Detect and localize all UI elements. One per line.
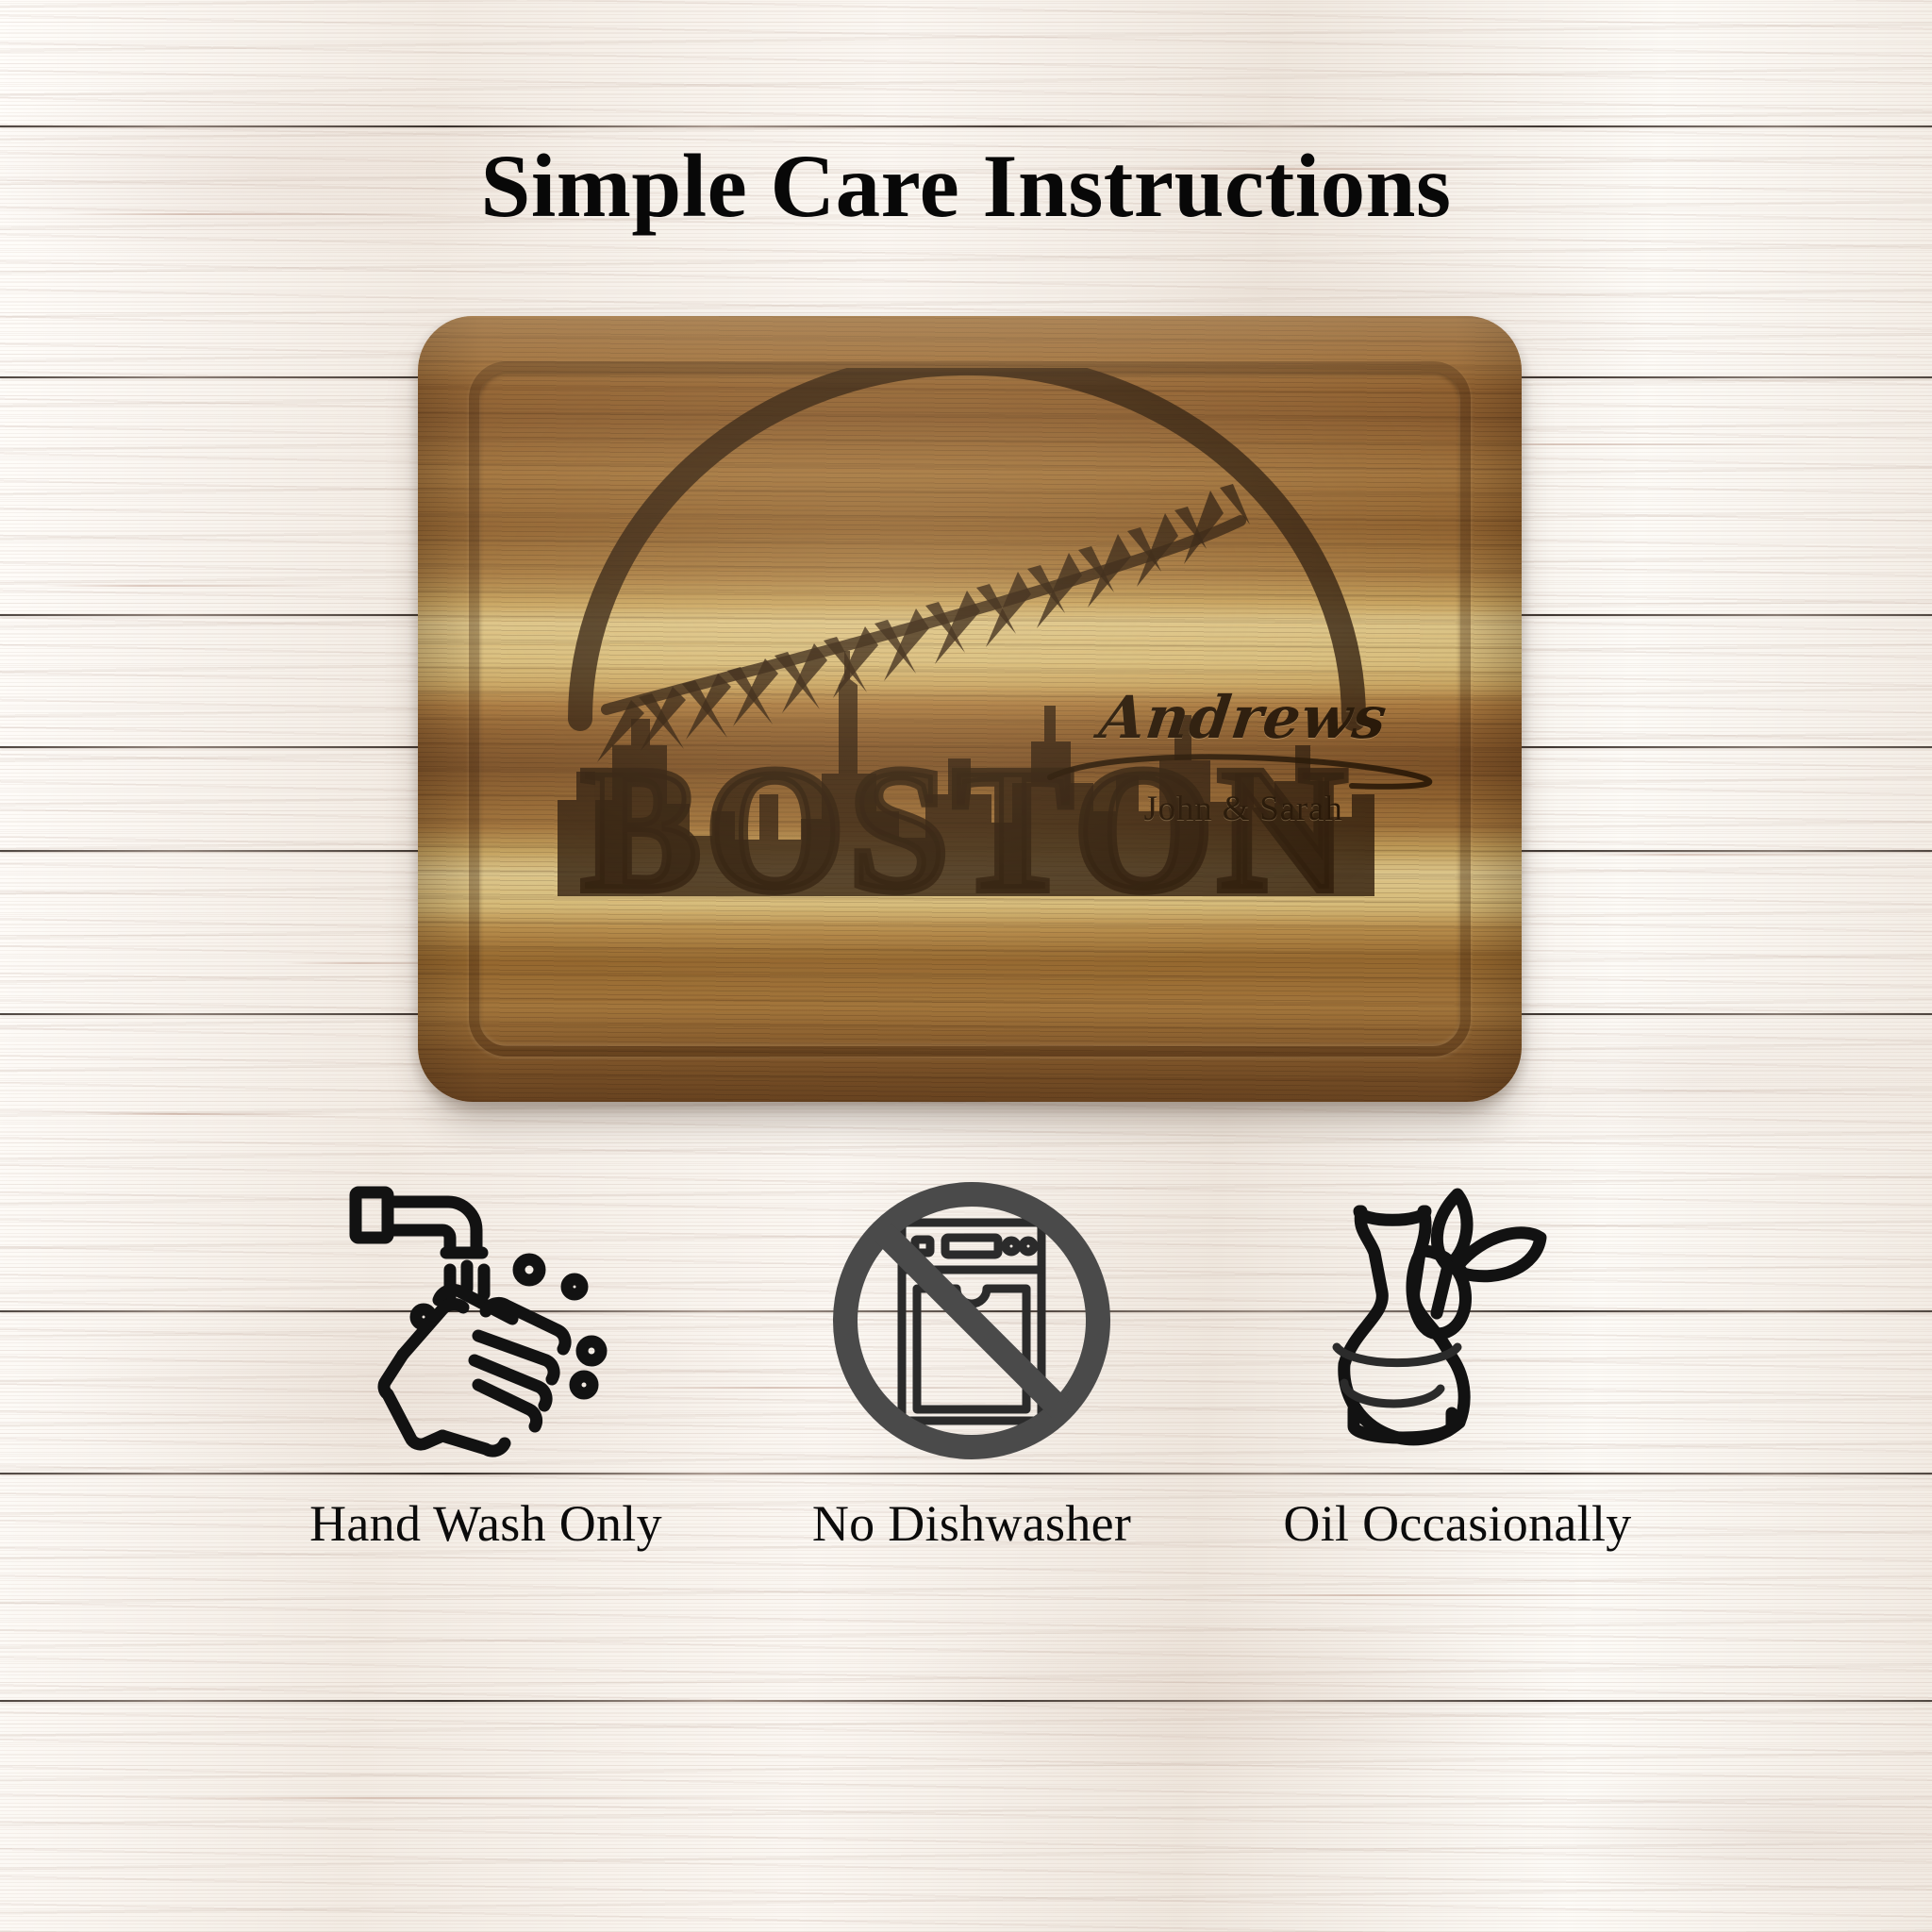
wood-grain-streak bbox=[38, 585, 349, 587]
care-label: Hand Wash Only bbox=[309, 1494, 662, 1553]
wood-grain-streak bbox=[1566, 854, 1906, 856]
product-care-infographic: Simple Care Instructions bbox=[0, 0, 1932, 1932]
hand-wash-icon bbox=[344, 1179, 627, 1462]
wood-grain-texture bbox=[418, 316, 1522, 1102]
care-item-hand-wash: Hand Wash Only bbox=[283, 1179, 689, 1553]
care-item-oil: Oil Occasionally bbox=[1255, 1179, 1660, 1553]
page-title: Simple Care Instructions bbox=[0, 142, 1932, 231]
cutting-board: BOSTON Andrews John & Sarah bbox=[418, 316, 1522, 1102]
wood-grain-streak bbox=[85, 1113, 349, 1115]
oil-bottle-icon bbox=[1316, 1179, 1599, 1462]
care-instructions-row: Hand Wash Only bbox=[283, 1179, 1660, 1632]
no-dishwasher-icon bbox=[830, 1179, 1113, 1462]
care-label: Oil Occasionally bbox=[1283, 1494, 1631, 1553]
care-label: No Dishwasher bbox=[812, 1494, 1131, 1553]
plank-seam bbox=[0, 1700, 1932, 1702]
wood-grain-streak bbox=[151, 1797, 811, 1799]
care-item-no-dishwasher: No Dishwasher bbox=[769, 1179, 1174, 1553]
plank-seam bbox=[0, 125, 1932, 127]
